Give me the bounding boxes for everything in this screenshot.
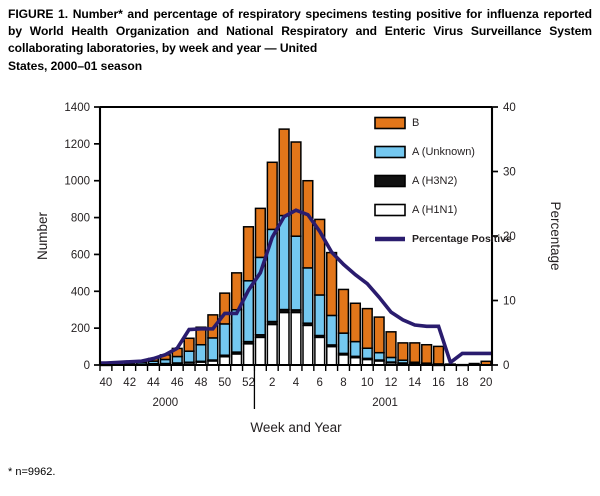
legend-item-b[interactable]: B [375,117,419,129]
x-tick-label: 42 [123,377,136,389]
bar-segment-b [291,142,301,236]
y-axis-right-title: Percentage [548,201,563,270]
bar-week-11 [374,317,384,365]
bar-segment-aunknown [232,310,242,352]
bar-week-7 [327,253,337,365]
legend-label: A (H3N2) [412,175,457,187]
footnote: * n=9962. [8,466,55,479]
bar-segment-aunknown [351,342,361,357]
bar-week-51 [232,273,242,365]
x-tick-label: 14 [408,377,421,389]
y-left-tick-label: 1400 [64,102,90,114]
y-left-tick-label: 600 [71,249,90,261]
legend-label: Percentage Positive [412,233,512,245]
x-tick-label: 50 [218,377,231,389]
bar-week-47 [184,338,194,365]
bar-segment-aunknown [172,357,182,363]
title-line-4: States, 2000–01 season [8,58,592,75]
figure-title: FIGURE 1. Number* and percentage of resp… [8,6,592,75]
figure-chart: 0200400600800100012001400010203040404244… [0,90,600,450]
bar-segment-aunknown [279,216,289,310]
bar-segment-aunknown [184,351,194,362]
bar-segment-ah1n1 [220,357,230,365]
y-left-tick-label: 1200 [64,139,90,151]
bar-segment-b [374,317,384,353]
bar-segment-aunknown [303,268,313,323]
y-right-tick-label: 40 [503,102,516,114]
x-tick-label: 44 [147,377,160,389]
bar-segment-b [422,345,432,363]
x-axis-title: Week and Year [250,420,342,435]
bar-segment-aunknown [220,324,230,355]
bar-week-14 [410,343,420,365]
year-label-2000: 2000 [153,397,179,409]
bar-segment-aunknown [291,236,301,310]
bar-week-12 [386,332,396,365]
bar-segment-b [327,253,337,316]
bar-segment-b [279,129,289,215]
chart-canvas: 0200400600800100012001400010203040404244… [0,90,600,450]
x-tick-label: 6 [317,377,323,389]
bar-segment-aunknown [362,348,372,358]
x-tick-label: 40 [100,377,113,389]
legend-color-swatch [375,205,405,216]
bar-segment-b [434,346,444,364]
x-tick-label: 4 [293,377,300,389]
x-tick-label: 8 [340,377,346,389]
x-tick-label: 48 [195,377,208,389]
x-tick-label: 12 [385,377,398,389]
bar-segment-b [244,227,254,281]
x-tick-label: 46 [171,377,184,389]
bar-segment-b [362,309,372,349]
bar-segment-ah1n1 [327,347,337,365]
y-axis-left-title: Number [35,211,50,260]
bar-segment-b [255,208,265,257]
y-right-tick-label: 10 [503,296,516,308]
legend-label: B [412,117,419,129]
bar-week-16 [434,346,444,365]
bar-segment-aunknown [196,345,206,362]
y-left-tick-label: 800 [71,213,90,225]
legend-item-percentage-positive[interactable]: Percentage Positive [375,233,512,245]
y-left-tick-label: 0 [84,360,90,372]
bar-segment-b [386,332,396,358]
legend-item-a--h1n1-[interactable]: A (H1N1) [375,204,457,216]
bar-week-13 [398,343,408,365]
legend-color-swatch [375,147,405,158]
bar-segment-aunknown [327,315,337,344]
bar-week-3 [279,129,289,365]
y-right-tick-label: 0 [503,360,509,372]
y-left-tick-label: 200 [71,323,90,335]
bar-segment-ah1n1 [291,312,301,365]
bar-week-9 [351,303,361,365]
legend-color-swatch [375,118,405,129]
bar-week-50 [220,293,230,365]
bar-week-10 [362,309,372,365]
bar-week-4 [291,142,301,365]
bar-segment-b [410,343,420,362]
legend-color-swatch [375,176,405,187]
bar-segment-ah1n1 [303,325,313,365]
year-label-2001: 2001 [372,397,398,409]
bar-week-48 [196,327,206,365]
bar-segment-ah1n1 [339,355,349,365]
x-tick-label: 20 [480,377,493,389]
bar-segment-b [303,181,313,268]
legend-item-a--unknown-[interactable]: A (Unknown) [375,146,475,158]
bar-week-15 [422,345,432,366]
x-tick-label: 2 [269,377,275,389]
bar-week-5 [303,181,313,365]
bar-segment-ah1n1 [255,337,265,365]
bar-week-6 [315,219,325,365]
x-tick-label: 16 [432,377,445,389]
bar-segment-ah1n1 [267,324,277,365]
bar-segment-ah1n1 [244,344,254,365]
bar-segment-b [184,338,194,351]
bar-week-8 [339,289,349,365]
bar-week-1 [255,208,265,365]
bar-segment-aunknown [339,333,349,353]
bar-segment-b [398,343,408,360]
bar-segment-ah1n1 [351,358,361,365]
bar-segment-b [351,303,361,341]
x-tick-label: 52 [242,377,255,389]
bar-segment-aunknown [208,338,218,360]
x-tick-label: 10 [361,377,374,389]
bar-week-2 [267,162,277,365]
y-left-tick-label: 1000 [64,176,90,188]
bar-segment-ah1n1 [279,312,289,365]
bar-segment-aunknown [315,295,325,336]
y-right-tick-label: 30 [503,167,516,179]
bar-segment-aunknown [374,353,384,360]
x-tick-label: 18 [456,377,469,389]
bar-segment-b [339,289,349,333]
title-line-1: FIGURE 1. Number* and percentage of resp… [8,7,482,21]
bar-segment-b [267,162,277,229]
legend-label: A (Unknown) [412,146,475,158]
bar-segment-ah1n1 [232,354,242,365]
legend-item-a--h3n2-[interactable]: A (H3N2) [375,175,457,187]
bars-layer [101,129,491,365]
legend-label: A (H1N1) [412,204,457,216]
bar-segment-ah1n1 [315,337,325,365]
y-left-tick-label: 400 [71,286,90,298]
